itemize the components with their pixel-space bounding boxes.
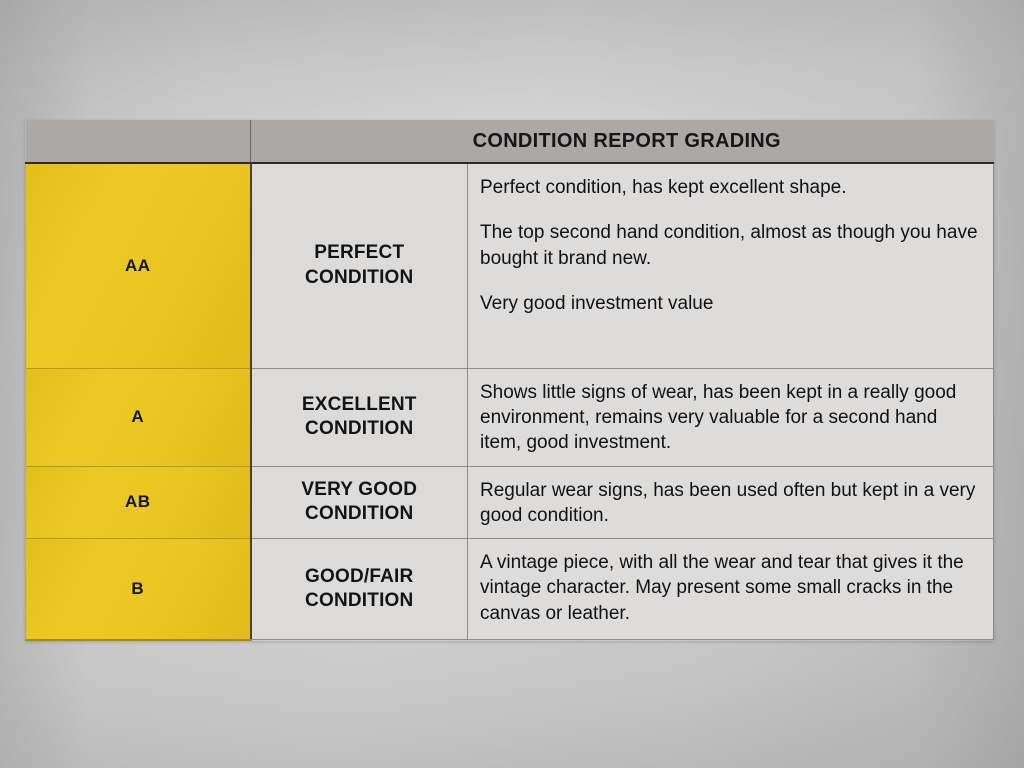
table-row: A EXCELLENT CONDITION Shows little signs… [26,368,994,466]
grade-badge-b: B [26,539,251,640]
condition-name-ab: VERY GOOD CONDITION [251,466,468,539]
condition-description-a: Shows little signs of wear, has been kep… [468,368,994,466]
condition-name-line2: CONDITION [253,417,467,441]
condition-description-b: A vintage piece, with all the wear and t… [468,539,994,640]
condition-name-aa: PERFECT CONDITION [251,163,468,368]
table-row: AB VERY GOOD CONDITION Regular wear sign… [26,466,994,539]
paper-shadow-top [0,0,1024,120]
header-cell-blank [26,120,251,163]
table-header-row: CONDITION REPORT GRADING [26,120,994,163]
page-title: CONDITION REPORT GRADING [251,130,994,153]
condition-name-line1: EXCELLENT [253,393,467,417]
grade-badge-aa: AA [26,163,251,368]
condition-name-b: GOOD/FAIR CONDITION [251,539,468,640]
condition-name-line1: VERY GOOD [253,478,467,502]
description-paragraph: A vintage piece, with all the wear and t… [480,550,981,626]
condition-name-line1: GOOD/FAIR [253,565,467,589]
condition-description-ab: Regular wear signs, has been used often … [468,466,994,539]
description-paragraph: The top second hand condition, almost as… [480,220,981,271]
header-cell-title: CONDITION REPORT GRADING [251,120,994,163]
description-paragraph: Very good investment value [480,291,981,316]
condition-name-line1: PERFECT [253,241,467,265]
condition-description-aa: Perfect condition, has kept excellent sh… [468,163,994,368]
condition-name-line2: CONDITION [253,502,467,526]
grade-badge-ab: AB [26,466,251,539]
description-paragraph: Shows little signs of wear, has been kep… [480,380,981,456]
description-paragraph: Regular wear signs, has been used often … [480,478,981,529]
description-paragraph: Perfect condition, has kept excellent sh… [480,175,981,200]
condition-name-line2: CONDITION [253,266,467,290]
condition-name-line2: CONDITION [253,589,467,613]
condition-report-grading-table: CONDITION REPORT GRADING AA PERFECT COND… [25,120,994,641]
table-row: AA PERFECT CONDITION Perfect condition, … [26,163,994,368]
table-row: B GOOD/FAIR CONDITION A vintage piece, w… [26,539,994,640]
condition-name-a: EXCELLENT CONDITION [251,368,468,466]
grade-badge-a: A [26,368,251,466]
